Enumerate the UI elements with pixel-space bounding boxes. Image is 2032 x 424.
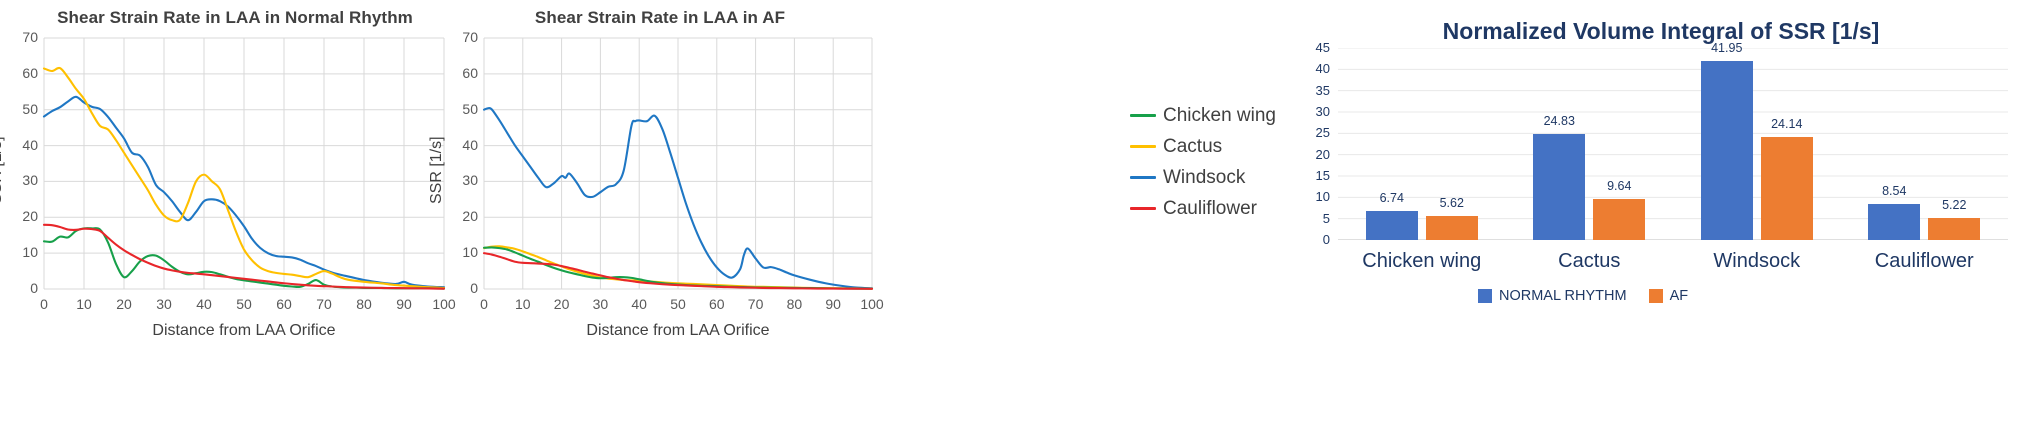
x-tick-label: 0 — [24, 296, 64, 312]
bar-cauliflower-af[interactable] — [1928, 218, 1980, 240]
bar-chicken-wing-af[interactable] — [1426, 216, 1478, 240]
y-tick-label: 0 — [4, 280, 38, 296]
y-tick-label: 10 — [444, 244, 478, 260]
y-tick-label: 70 — [4, 29, 38, 45]
bar-legend-label: NORMAL RHYTHM — [1499, 288, 1627, 304]
y-tick-label: 50 — [444, 101, 478, 117]
bar-value-label: 24.14 — [1749, 117, 1825, 131]
legend-label: Chicken wing — [1163, 105, 1276, 127]
y-tick-label: 30 — [444, 172, 478, 188]
series-legend: Chicken wingCactusWindsockCauliflower — [1130, 100, 1276, 224]
chart-title-af: Shear Strain Rate in LAA in AF — [440, 8, 880, 28]
x-tick-label: 70 — [304, 296, 344, 312]
y-tick-label: 60 — [444, 65, 478, 81]
legend-label: Cactus — [1163, 136, 1222, 158]
x-tick-label: 10 — [503, 296, 543, 312]
x-tick-label: 80 — [774, 296, 814, 312]
bar-cactus-af[interactable] — [1593, 199, 1645, 240]
chart-panel-normalized-volume-integral: Normalized Volume Integral of SSR [1/s] … — [1290, 0, 2032, 424]
bar-category-label: Chicken wing — [1338, 250, 1506, 273]
bar-category-label: Cauliflower — [1841, 250, 2009, 273]
x-tick-label: 40 — [184, 296, 224, 312]
x-tick-label: 60 — [264, 296, 304, 312]
legend-item-windsock[interactable]: Windsock — [1130, 162, 1276, 193]
bar-legend-swatch-icon — [1478, 289, 1492, 303]
bar-value-label: 8.54 — [1856, 184, 1932, 198]
y-tick-label: 40 — [4, 137, 38, 153]
bar-y-tick-label: 10 — [1304, 189, 1330, 204]
x-axis-label-normal-rhythm: Distance from LAA Orifice — [44, 322, 444, 340]
legend-swatch-line-icon — [1130, 207, 1156, 210]
chart-panel-af: Shear Strain Rate in LAA in AF SSR [1/s]… — [440, 0, 880, 424]
plot-area-bar-chart — [1338, 48, 2008, 240]
bar-y-tick-label: 45 — [1304, 40, 1330, 55]
y-tick-label: 50 — [4, 101, 38, 117]
x-tick-label: 90 — [813, 296, 853, 312]
legend-swatch-line-icon — [1130, 114, 1156, 117]
y-tick-label: 30 — [4, 172, 38, 188]
chart-title-normalized-volume-integral: Normalized Volume Integral of SSR [1/s] — [1290, 18, 2032, 45]
bar-legend-swatch-icon — [1649, 289, 1663, 303]
x-tick-label: 50 — [658, 296, 698, 312]
x-tick-label: 30 — [144, 296, 184, 312]
y-tick-label: 40 — [444, 137, 478, 153]
bar-cauliflower-normal-rhythm[interactable] — [1868, 204, 1920, 240]
legend-item-chicken-wing[interactable]: Chicken wing — [1130, 100, 1276, 131]
bar-legend-item-normal-rhythm[interactable]: NORMAL RHYTHM — [1478, 288, 1627, 304]
y-tick-label: 0 — [444, 280, 478, 296]
y-tick-label: 20 — [4, 208, 38, 224]
bar-y-tick-label: 35 — [1304, 83, 1330, 98]
bar-y-tick-label: 40 — [1304, 61, 1330, 76]
y-tick-label: 20 — [444, 208, 478, 224]
figure-root: Shear Strain Rate in LAA in Normal Rhyth… — [0, 0, 2032, 424]
x-tick-label: 60 — [697, 296, 737, 312]
legend-label: Windsock — [1163, 167, 1245, 189]
x-tick-label: 20 — [542, 296, 582, 312]
x-tick-label: 70 — [736, 296, 776, 312]
bar-value-label: 5.62 — [1414, 196, 1490, 210]
x-tick-label: 20 — [104, 296, 144, 312]
y-tick-label: 60 — [4, 65, 38, 81]
legend-swatch-line-icon — [1130, 145, 1156, 148]
bar-cactus-normal-rhythm[interactable] — [1533, 134, 1585, 240]
bar-chart-legend: NORMAL RHYTHMAF — [1478, 288, 1688, 304]
y-tick-label: 70 — [444, 29, 478, 45]
bar-legend-label: AF — [1670, 288, 1689, 304]
plot-area-af — [484, 38, 872, 289]
legend-item-cactus[interactable]: Cactus — [1130, 131, 1276, 162]
x-tick-label: 80 — [344, 296, 384, 312]
plot-area-normal-rhythm — [44, 38, 444, 289]
chart-panel-normal-rhythm: Shear Strain Rate in LAA in Normal Rhyth… — [0, 0, 470, 424]
x-tick-label: 10 — [64, 296, 104, 312]
bar-value-label: 41.95 — [1689, 41, 1765, 55]
x-tick-label: 0 — [464, 296, 504, 312]
x-tick-label: 40 — [619, 296, 659, 312]
chart-title-normal-rhythm: Shear Strain Rate in LAA in Normal Rhyth… — [0, 8, 470, 28]
bar-value-label: 9.64 — [1581, 179, 1657, 193]
legend-swatch-line-icon — [1130, 176, 1156, 179]
y-tick-label: 10 — [4, 244, 38, 260]
bar-y-tick-label: 0 — [1304, 232, 1330, 247]
x-axis-label-af: Distance from LAA Orifice — [484, 322, 872, 340]
x-tick-label: 100 — [852, 296, 892, 312]
x-tick-label: 90 — [384, 296, 424, 312]
bar-y-tick-label: 20 — [1304, 147, 1330, 162]
bar-y-tick-label: 30 — [1304, 104, 1330, 119]
bar-category-label: Cactus — [1506, 250, 1674, 273]
bar-y-tick-label: 15 — [1304, 168, 1330, 183]
legend-label: Cauliflower — [1163, 198, 1257, 220]
bar-windsock-normal-rhythm[interactable] — [1701, 61, 1753, 240]
legend-item-cauliflower[interactable]: Cauliflower — [1130, 193, 1276, 224]
bar-value-label: 5.22 — [1916, 198, 1992, 212]
bar-legend-item-af[interactable]: AF — [1649, 288, 1689, 304]
bar-windsock-af[interactable] — [1761, 137, 1813, 240]
bar-y-tick-label: 5 — [1304, 211, 1330, 226]
bar-value-label: 24.83 — [1521, 114, 1597, 128]
bar-chicken-wing-normal-rhythm[interactable] — [1366, 211, 1418, 240]
x-tick-label: 50 — [224, 296, 264, 312]
bar-y-tick-label: 25 — [1304, 125, 1330, 140]
x-tick-label: 30 — [580, 296, 620, 312]
bar-category-label: Windsock — [1673, 250, 1841, 273]
